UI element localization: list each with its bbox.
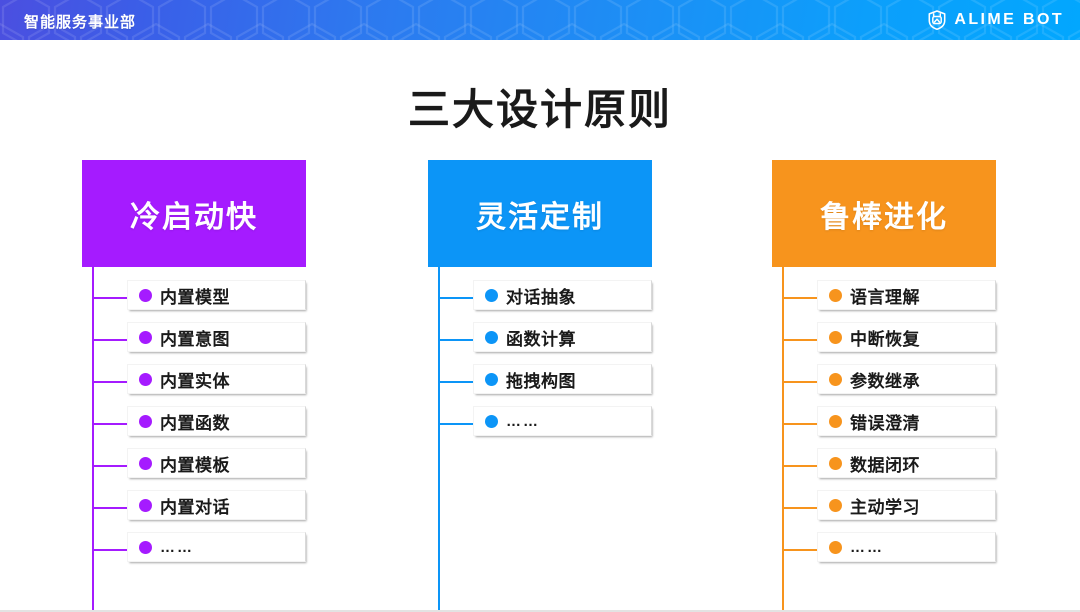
feature-item-box[interactable]: 主动学习 bbox=[817, 490, 996, 520]
bullet-dot-icon bbox=[829, 541, 842, 554]
feature-item[interactable]: 内置对话 bbox=[82, 487, 306, 529]
feature-item-box[interactable]: 参数继承 bbox=[817, 364, 996, 394]
connector-branch-line bbox=[782, 507, 817, 509]
feature-item-box[interactable]: …… bbox=[817, 532, 996, 562]
feature-item-label: 内置实体 bbox=[160, 367, 230, 392]
bullet-dot-icon bbox=[139, 457, 152, 470]
feature-item[interactable]: 错误澄清 bbox=[772, 403, 996, 445]
principle-column-2: 灵活定制 对话抽象函数计算拖拽构图…… bbox=[428, 160, 652, 445]
feature-item[interactable]: …… bbox=[772, 529, 996, 571]
bullet-dot-icon bbox=[139, 541, 152, 554]
feature-item[interactable]: 语言理解 bbox=[772, 277, 996, 319]
connector-branch-line bbox=[782, 465, 817, 467]
bullet-dot-icon bbox=[829, 415, 842, 428]
feature-item[interactable]: 数据闭环 bbox=[772, 445, 996, 487]
feature-item-label: 参数继承 bbox=[850, 367, 920, 392]
principle-column-1: 冷启动快 内置模型内置意图内置实体内置函数内置模板内置对话…… bbox=[82, 160, 306, 571]
slide-canvas: 智能服务事业部 ALIME BOT 三大设计原则 冷启动快 内置模型内置意图内置… bbox=[0, 0, 1080, 612]
feature-item-label: 内置函数 bbox=[160, 409, 230, 434]
feature-item-box[interactable]: 拖拽构图 bbox=[473, 364, 652, 394]
principle-heading-label: 鲁棒进化 bbox=[820, 192, 948, 236]
feature-item-box[interactable]: …… bbox=[473, 406, 652, 436]
feature-item[interactable]: 内置模型 bbox=[82, 277, 306, 319]
bullet-dot-icon bbox=[829, 373, 842, 386]
connector-branch-line bbox=[438, 381, 473, 383]
feature-item-label: 拖拽构图 bbox=[506, 367, 576, 392]
feature-item[interactable]: 内置意图 bbox=[82, 319, 306, 361]
connector-branch-line bbox=[782, 549, 817, 551]
feature-item[interactable]: 参数继承 bbox=[772, 361, 996, 403]
connector-branch-line bbox=[782, 297, 817, 299]
header-bar: 智能服务事业部 ALIME BOT bbox=[0, 0, 1080, 40]
connector-branch-line bbox=[92, 381, 127, 383]
feature-item-box[interactable]: 内置对话 bbox=[127, 490, 306, 520]
bullet-dot-icon bbox=[485, 415, 498, 428]
page-title: 三大设计原则 bbox=[0, 76, 1080, 137]
feature-item-label: 对话抽象 bbox=[506, 283, 576, 308]
feature-item-label: …… bbox=[850, 539, 884, 556]
feature-item-label: …… bbox=[506, 413, 540, 430]
feature-item-label: 错误澄清 bbox=[850, 409, 920, 434]
header-title: 智能服务事业部 bbox=[24, 11, 136, 32]
feature-item-box[interactable]: 中断恢复 bbox=[817, 322, 996, 352]
connector-branch-line bbox=[438, 423, 473, 425]
connector-branch-line bbox=[92, 339, 127, 341]
feature-item-box[interactable]: 内置实体 bbox=[127, 364, 306, 394]
feature-item[interactable]: …… bbox=[82, 529, 306, 571]
bullet-dot-icon bbox=[829, 499, 842, 512]
principle-card-header-2: 灵活定制 bbox=[428, 160, 652, 267]
alime-shield-robot-icon bbox=[926, 9, 948, 31]
bullet-dot-icon bbox=[485, 373, 498, 386]
principle-card-header-1: 冷启动快 bbox=[82, 160, 306, 267]
feature-item-box[interactable]: 内置模板 bbox=[127, 448, 306, 478]
feature-item[interactable]: 内置实体 bbox=[82, 361, 306, 403]
feature-list-1: 内置模型内置意图内置实体内置函数内置模板内置对话…… bbox=[82, 277, 306, 571]
feature-item-box[interactable]: 语言理解 bbox=[817, 280, 996, 310]
feature-item-label: 内置意图 bbox=[160, 325, 230, 350]
feature-item-label: 内置模型 bbox=[160, 283, 230, 308]
feature-item-box[interactable]: 内置函数 bbox=[127, 406, 306, 436]
feature-item[interactable]: 主动学习 bbox=[772, 487, 996, 529]
feature-item[interactable]: …… bbox=[428, 403, 652, 445]
feature-list-2: 对话抽象函数计算拖拽构图…… bbox=[428, 277, 652, 445]
connector-branch-line bbox=[782, 423, 817, 425]
connector-branch-line bbox=[92, 423, 127, 425]
feature-item-label: 内置模板 bbox=[160, 451, 230, 476]
feature-item-label: …… bbox=[160, 539, 194, 556]
hexagon-pattern-icon bbox=[0, 0, 1080, 40]
feature-item[interactable]: 内置模板 bbox=[82, 445, 306, 487]
connector-branch-line bbox=[782, 339, 817, 341]
bullet-dot-icon bbox=[829, 457, 842, 470]
feature-item-label: 函数计算 bbox=[506, 325, 576, 350]
bullet-dot-icon bbox=[829, 289, 842, 302]
feature-item-label: 中断恢复 bbox=[850, 325, 920, 350]
connector-branch-line bbox=[782, 381, 817, 383]
principle-card-header-3: 鲁棒进化 bbox=[772, 160, 996, 267]
principle-column-3: 鲁棒进化 语言理解中断恢复参数继承错误澄清数据闭环主动学习…… bbox=[772, 160, 996, 571]
bullet-dot-icon bbox=[139, 289, 152, 302]
brand-lockup: ALIME BOT bbox=[926, 9, 1064, 31]
feature-item-label: 主动学习 bbox=[850, 493, 920, 518]
feature-item-box[interactable]: 数据闭环 bbox=[817, 448, 996, 478]
bullet-dot-icon bbox=[485, 331, 498, 344]
feature-item[interactable]: 函数计算 bbox=[428, 319, 652, 361]
feature-item[interactable]: 内置函数 bbox=[82, 403, 306, 445]
feature-item-box[interactable]: 对话抽象 bbox=[473, 280, 652, 310]
bullet-dot-icon bbox=[139, 331, 152, 344]
feature-item-box[interactable]: 函数计算 bbox=[473, 322, 652, 352]
feature-item[interactable]: 中断恢复 bbox=[772, 319, 996, 361]
connector-branch-line bbox=[92, 297, 127, 299]
brand-name: ALIME BOT bbox=[954, 11, 1064, 29]
feature-item-label: 数据闭环 bbox=[850, 451, 920, 476]
feature-item-box[interactable]: 错误澄清 bbox=[817, 406, 996, 436]
bullet-dot-icon bbox=[485, 289, 498, 302]
feature-item-box[interactable]: …… bbox=[127, 532, 306, 562]
feature-item[interactable]: 对话抽象 bbox=[428, 277, 652, 319]
principle-heading-label: 灵活定制 bbox=[476, 192, 604, 236]
bullet-dot-icon bbox=[829, 331, 842, 344]
feature-list-3: 语言理解中断恢复参数继承错误澄清数据闭环主动学习…… bbox=[772, 277, 996, 571]
feature-item-label: 内置对话 bbox=[160, 493, 230, 518]
connector-branch-line bbox=[438, 339, 473, 341]
feature-item-box[interactable]: 内置意图 bbox=[127, 322, 306, 352]
connector-branch-line bbox=[92, 465, 127, 467]
bullet-dot-icon bbox=[139, 415, 152, 428]
feature-item-label: 语言理解 bbox=[850, 283, 920, 308]
principle-heading-label: 冷启动快 bbox=[130, 192, 258, 236]
feature-item[interactable]: 拖拽构图 bbox=[428, 361, 652, 403]
connector-branch-line bbox=[438, 297, 473, 299]
connector-branch-line bbox=[92, 507, 127, 509]
connector-branch-line bbox=[92, 549, 127, 551]
bullet-dot-icon bbox=[139, 499, 152, 512]
feature-item-box[interactable]: 内置模型 bbox=[127, 280, 306, 310]
bullet-dot-icon bbox=[139, 373, 152, 386]
